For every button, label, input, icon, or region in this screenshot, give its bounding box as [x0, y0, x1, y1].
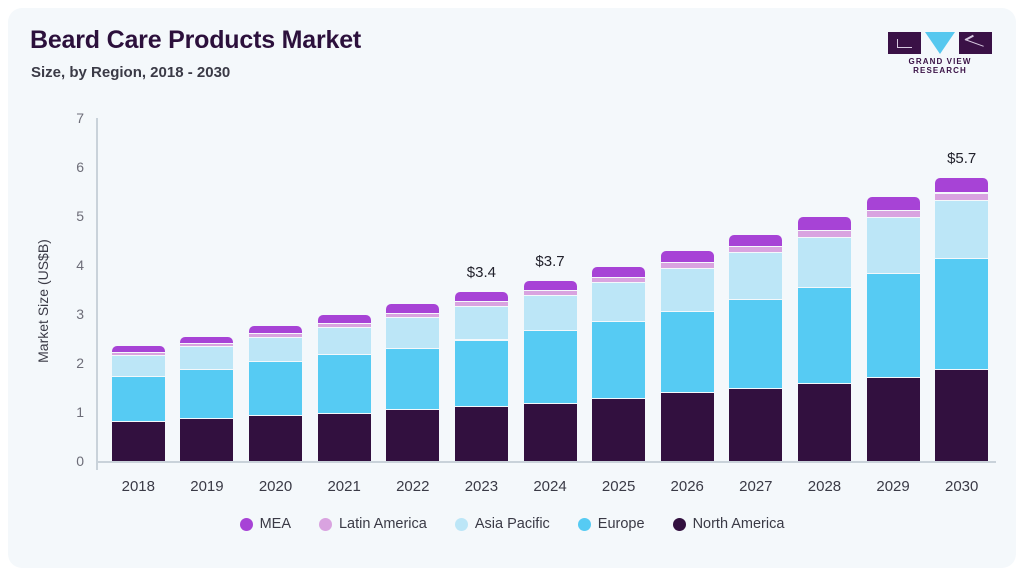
bar-segment-asia-pacific[interactable] — [112, 355, 165, 376]
y-tick-label: 6 — [52, 159, 84, 175]
bar-group-2026[interactable] — [661, 8, 714, 461]
bar-segment-asia-pacific[interactable] — [524, 295, 577, 330]
bar-segment-mea[interactable] — [386, 304, 439, 312]
y-axis-line — [96, 118, 98, 470]
y-tick-label: 5 — [52, 208, 84, 224]
bar-segment-mea[interactable] — [729, 235, 782, 246]
x-tick-label: 2021 — [309, 478, 379, 495]
bar-segment-latin-america[interactable] — [249, 333, 302, 336]
x-tick-label: 2030 — [927, 478, 997, 495]
bar-segment-mea[interactable] — [249, 326, 302, 333]
bar-segment-europe[interactable] — [867, 273, 920, 377]
bar-segment-latin-america[interactable] — [592, 277, 645, 282]
legend-swatch-icon — [319, 518, 332, 531]
bar-segment-latin-america[interactable] — [318, 323, 371, 327]
bar-group-2022[interactable] — [386, 8, 439, 461]
bar-segment-latin-america[interactable] — [798, 230, 851, 237]
bar-group-2020[interactable] — [249, 8, 302, 461]
bar-value-label: $5.7 — [917, 150, 1007, 167]
x-tick-label: 2028 — [789, 478, 859, 495]
bar-segment-mea[interactable] — [524, 281, 577, 290]
bar-segment-mea[interactable] — [935, 178, 988, 192]
legend-item-latin-america[interactable]: Latin America — [319, 516, 427, 532]
bar-segment-latin-america[interactable] — [455, 301, 508, 306]
bar-value-label: $3.7 — [505, 253, 595, 270]
bar-segment-asia-pacific[interactable] — [455, 306, 508, 339]
bar-segment-asia-pacific[interactable] — [386, 317, 439, 348]
bar-segment-north-america[interactable] — [249, 415, 302, 461]
legend-swatch-icon — [578, 518, 591, 531]
bar-segment-asia-pacific[interactable] — [592, 282, 645, 321]
legend-label: Asia Pacific — [475, 516, 550, 532]
legend-swatch-icon — [240, 518, 253, 531]
bar-segment-latin-america[interactable] — [112, 352, 165, 355]
bar-group-2024[interactable] — [524, 8, 577, 461]
bar-segment-europe[interactable] — [386, 348, 439, 409]
bar-group-2029[interactable] — [867, 8, 920, 461]
bar-segment-north-america[interactable] — [386, 409, 439, 461]
bar-segment-europe[interactable] — [729, 299, 782, 388]
y-tick-label: 4 — [52, 257, 84, 273]
bar-segment-mea[interactable] — [112, 346, 165, 352]
bar-segment-north-america[interactable] — [318, 413, 371, 461]
legend-swatch-icon — [673, 518, 686, 531]
bar-segment-europe[interactable] — [798, 287, 851, 383]
legend-label: Latin America — [339, 516, 427, 532]
bar-segment-mea[interactable] — [318, 315, 371, 322]
bar-segment-north-america[interactable] — [592, 398, 645, 461]
x-tick-label: 2026 — [652, 478, 722, 495]
bar-segment-asia-pacific[interactable] — [729, 252, 782, 299]
bar-group-2023[interactable] — [455, 8, 508, 461]
bar-group-2025[interactable] — [592, 8, 645, 461]
bar-segment-asia-pacific[interactable] — [935, 200, 988, 258]
y-tick-label: 1 — [52, 404, 84, 420]
legend-item-mea[interactable]: MEA — [240, 516, 291, 532]
bar-segment-europe[interactable] — [661, 311, 714, 393]
bar-segment-latin-america[interactable] — [729, 246, 782, 252]
bar-segment-mea[interactable] — [592, 267, 645, 277]
x-tick-label: 2022 — [378, 478, 448, 495]
bar-segment-mea[interactable] — [867, 197, 920, 210]
bar-group-2018[interactable] — [112, 8, 165, 461]
y-tick-label: 3 — [52, 306, 84, 322]
x-tick-label: 2029 — [858, 478, 928, 495]
bar-group-2019[interactable] — [180, 8, 233, 461]
bar-segment-asia-pacific[interactable] — [798, 237, 851, 287]
legend-label: North America — [693, 516, 785, 532]
bar-segment-europe[interactable] — [592, 321, 645, 398]
bar-segment-asia-pacific[interactable] — [661, 268, 714, 311]
bar-segment-asia-pacific[interactable] — [867, 217, 920, 272]
bar-segment-latin-america[interactable] — [661, 262, 714, 268]
chart-legend: MEALatin AmericaAsia PacificEuropeNorth … — [8, 516, 1016, 532]
x-tick-label: 2025 — [584, 478, 654, 495]
x-tick-label: 2023 — [446, 478, 516, 495]
bar-segment-europe[interactable] — [112, 376, 165, 421]
chart-card: Beard Care Products Market Size, by Regi… — [8, 8, 1016, 568]
bar-segment-north-america[interactable] — [798, 383, 851, 461]
bar-segment-north-america[interactable] — [524, 403, 577, 461]
x-tick-label: 2027 — [721, 478, 791, 495]
x-axis-line — [96, 461, 996, 463]
bar-segment-asia-pacific[interactable] — [318, 327, 371, 354]
y-tick-label: 0 — [52, 453, 84, 469]
bar-segment-mea[interactable] — [661, 251, 714, 262]
bar-segment-asia-pacific[interactable] — [249, 337, 302, 362]
y-tick-label: 7 — [52, 110, 84, 126]
y-tick-label: 2 — [52, 355, 84, 371]
x-tick-label: 2019 — [172, 478, 242, 495]
bar-segment-europe[interactable] — [524, 330, 577, 403]
legend-item-europe[interactable]: Europe — [578, 516, 645, 532]
legend-item-asia-pacific[interactable]: Asia Pacific — [455, 516, 550, 532]
bar-segment-north-america[interactable] — [729, 388, 782, 461]
bar-segment-north-america[interactable] — [661, 392, 714, 461]
legend-item-north-america[interactable]: North America — [673, 516, 785, 532]
bar-segment-europe[interactable] — [249, 361, 302, 415]
bar-segment-north-america[interactable] — [112, 421, 165, 461]
bar-segment-north-america[interactable] — [935, 369, 988, 461]
bar-segment-latin-america[interactable] — [935, 193, 988, 201]
bar-segment-europe[interactable] — [935, 258, 988, 369]
y-axis-label: Market Size (US$B) — [35, 201, 51, 401]
legend-label: MEA — [260, 516, 291, 532]
bar-segment-latin-america[interactable] — [524, 290, 577, 295]
bar-segment-north-america[interactable] — [867, 377, 920, 461]
bar-group-2027[interactable] — [729, 8, 782, 461]
bar-segment-europe[interactable] — [318, 354, 371, 413]
x-tick-label: 2024 — [515, 478, 585, 495]
bar-segment-latin-america[interactable] — [867, 210, 920, 217]
bar-segment-europe[interactable] — [180, 369, 233, 418]
bar-segment-mea[interactable] — [455, 292, 508, 301]
bar-segment-latin-america[interactable] — [386, 313, 439, 317]
bar-segment-north-america[interactable] — [455, 406, 508, 461]
bar-segment-north-america[interactable] — [180, 418, 233, 461]
bar-segment-mea[interactable] — [798, 217, 851, 229]
bar-segment-mea[interactable] — [180, 337, 233, 343]
bar-segment-asia-pacific[interactable] — [180, 346, 233, 369]
legend-swatch-icon — [455, 518, 468, 531]
bar-group-2021[interactable] — [318, 8, 371, 461]
x-tick-label: 2020 — [241, 478, 311, 495]
bar-group-2028[interactable] — [798, 8, 851, 461]
bar-segment-latin-america[interactable] — [180, 343, 233, 346]
legend-label: Europe — [598, 516, 645, 532]
bar-group-2030[interactable] — [935, 8, 988, 461]
bar-segment-europe[interactable] — [455, 340, 508, 406]
stacked-bar-chart: Market Size (US$B) 01234567 201820192020… — [8, 8, 1016, 568]
x-tick-label: 2018 — [103, 478, 173, 495]
